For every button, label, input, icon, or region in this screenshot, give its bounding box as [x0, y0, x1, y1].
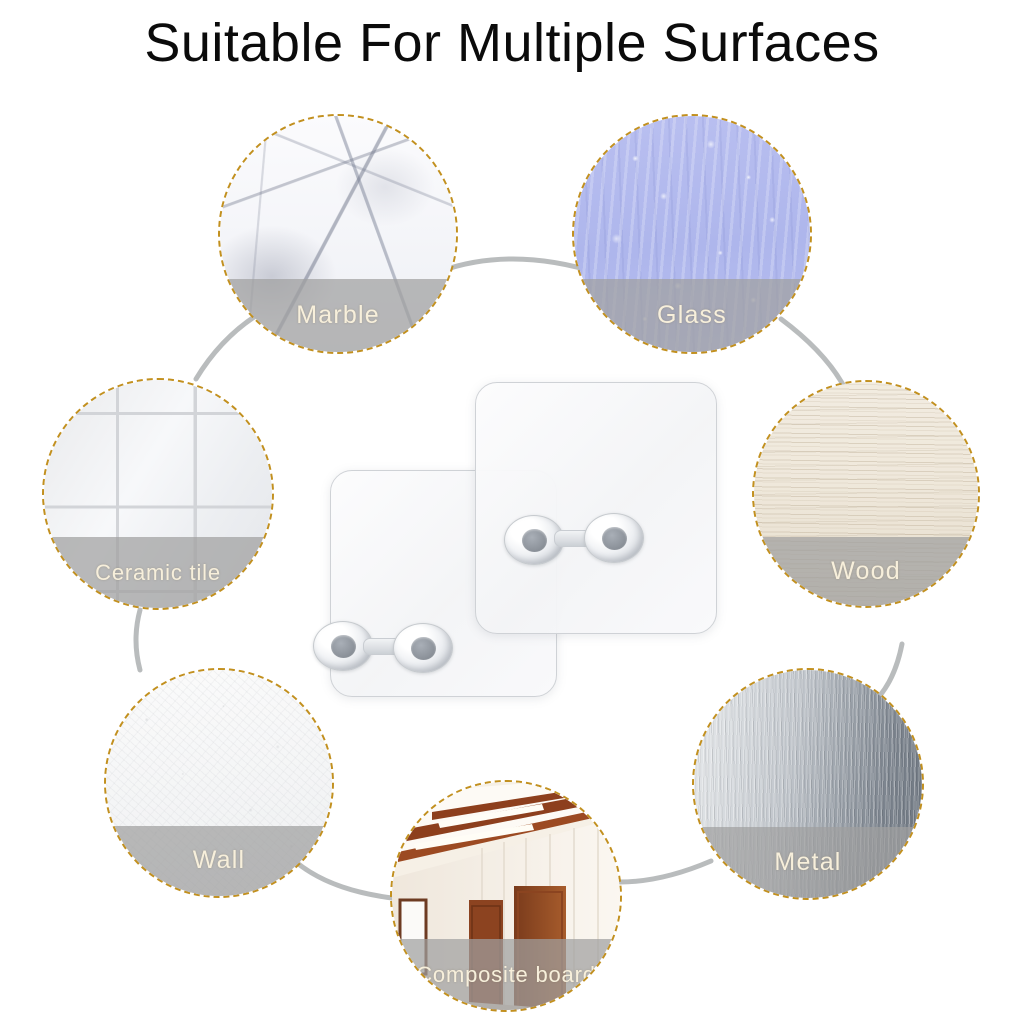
surface-circle-metal[interactable]: Metal: [692, 668, 924, 900]
adhesive-pad-front: [475, 382, 717, 634]
marble-texture: [220, 116, 456, 352]
surface-circle-ceramic-tile[interactable]: Ceramic tile: [42, 378, 274, 610]
glass-texture: [574, 116, 810, 352]
surface-circle-composite-board[interactable]: Composite board: [390, 780, 622, 1012]
surface-circle-glass[interactable]: Glass: [572, 114, 812, 354]
wood-texture: [754, 382, 978, 606]
infographic-canvas: Suitable For Multiple Surfaces Marble Gl…: [0, 0, 1024, 1024]
composite-board-texture: [392, 782, 620, 1010]
surface-circle-marble[interactable]: Marble: [218, 114, 458, 354]
wall-texture: [106, 670, 332, 896]
surface-circle-wood[interactable]: Wood: [752, 380, 980, 608]
metal-texture: [694, 670, 922, 898]
product-image-adhesive-hooks: [300, 360, 720, 720]
ceramic-tile-texture: [44, 380, 272, 608]
